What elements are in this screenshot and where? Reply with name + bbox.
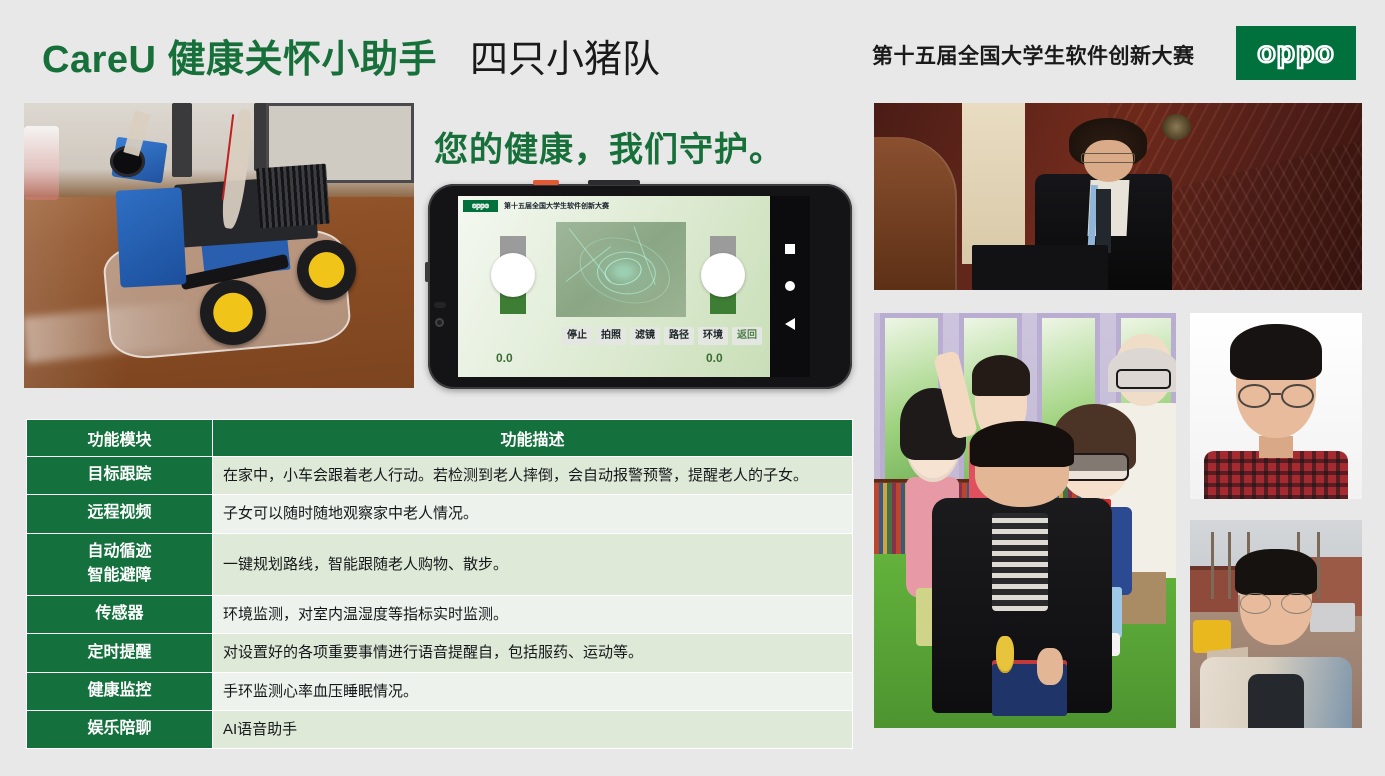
phone-screen: oppo 第十五届全国大学生软件创新大赛 0.0 0.0 停止 拍照 bbox=[458, 196, 810, 377]
neck bbox=[1259, 436, 1293, 458]
table-header-row: 功能模块 功能描述 bbox=[27, 420, 853, 457]
module-description: 子女可以随时随地观察家中老人情况。 bbox=[213, 495, 853, 533]
yellow-scooter bbox=[1193, 620, 1231, 653]
phone-mockup: oppo 第十五届全国大学生软件创新大赛 0.0 0.0 停止 拍照 bbox=[428, 184, 852, 389]
statue-hair bbox=[972, 355, 1030, 396]
parked-truck bbox=[1310, 603, 1355, 632]
recents-square-icon[interactable] bbox=[785, 244, 795, 254]
module-description: 环境监测，对室内温湿度等指标实时监测。 bbox=[213, 596, 853, 634]
wheel bbox=[297, 240, 356, 300]
glasses-left-lens bbox=[1240, 593, 1271, 614]
right-joystick-slider[interactable] bbox=[710, 236, 736, 314]
right-slider-value: 0.0 bbox=[706, 351, 723, 365]
module-name: 目标跟踪 bbox=[27, 457, 213, 495]
module-name: 健康监控 bbox=[27, 672, 213, 710]
table-row: 健康监控 手环监测心率血压睡眠情况。 bbox=[27, 672, 853, 710]
app-header: oppo 第十五届全国大学生软件创新大赛 bbox=[458, 196, 770, 216]
header-module: 功能模块 bbox=[27, 420, 213, 457]
member-striped-shirt bbox=[992, 513, 1048, 611]
heatsink-fan bbox=[256, 163, 330, 228]
module-name: 娱乐陪聊 bbox=[27, 710, 213, 748]
team-name: 四只小猪队 bbox=[470, 28, 660, 83]
table-row: 目标跟踪 在家中，小车会跟着老人行动。若检测到老人摔倒，会自动报警预警，提醒老人… bbox=[27, 457, 853, 495]
header-description: 功能描述 bbox=[213, 420, 853, 457]
module-description: 在家中，小车会跟着老人行动。若检测到老人摔倒，会自动报警预警，提醒老人的子女。 bbox=[213, 457, 853, 495]
arched-door bbox=[874, 137, 957, 290]
page-title: CareU 健康关怀小助手 bbox=[42, 28, 437, 83]
stop-button[interactable]: 停止 bbox=[562, 327, 592, 345]
module-description: 手环监测心率血压睡眠情况。 bbox=[213, 672, 853, 710]
left-slider-value: 0.0 bbox=[496, 351, 513, 365]
glasses-right-lens bbox=[1281, 593, 1312, 614]
bare-tree bbox=[1211, 532, 1214, 599]
bare-tree bbox=[1228, 532, 1231, 599]
table-row: 远程视频 子女可以随时随地观察家中老人情况。 bbox=[27, 495, 853, 533]
home-circle-icon[interactable] bbox=[785, 281, 795, 291]
module-description: AI语音助手 bbox=[213, 710, 853, 748]
path-button[interactable]: 路径 bbox=[664, 327, 694, 345]
app-contest-name: 第十五届全国大学生软件创新大赛 bbox=[504, 201, 609, 211]
team-member-crouching bbox=[928, 421, 1115, 728]
phone-side-key bbox=[425, 262, 429, 282]
presenter-tie bbox=[1096, 189, 1111, 253]
presentation-photo bbox=[874, 103, 1362, 290]
environment-button[interactable]: 环境 bbox=[698, 327, 728, 345]
module-name: 定时提醒 bbox=[27, 634, 213, 672]
control-button-row: 停止 拍照 滤镜 路径 环境 返回 bbox=[562, 327, 762, 345]
phone-power-button bbox=[533, 180, 559, 185]
robot-car-photo bbox=[24, 103, 414, 388]
glasses-bridge bbox=[1271, 393, 1281, 395]
table-row: 自动循迹 智能避障 一键规划路线，智能跟随老人购物、散步。 bbox=[27, 533, 853, 596]
member-id-photo bbox=[1190, 313, 1362, 499]
back-triangle-icon[interactable] bbox=[785, 318, 795, 330]
glasses-left-lens bbox=[1238, 384, 1271, 408]
table-row: 娱乐陪聊 AI语音助手 bbox=[27, 710, 853, 748]
table-row: 传感器 环境监测，对室内温湿度等指标实时监测。 bbox=[27, 596, 853, 634]
video-feed bbox=[556, 222, 686, 317]
feature-table: 功能模块 功能描述 目标跟踪 在家中，小车会跟着老人行动。若检测到老人摔倒，会自… bbox=[26, 419, 853, 749]
phone-volume-button bbox=[588, 180, 640, 185]
photo-button[interactable]: 拍照 bbox=[596, 327, 626, 345]
team-group-photo bbox=[874, 313, 1176, 728]
member-hair bbox=[1230, 324, 1323, 380]
member-tshirt bbox=[1248, 674, 1303, 728]
app-oppo-logo-text: oppo bbox=[472, 203, 489, 210]
glasses-right-lens bbox=[1281, 384, 1314, 408]
filter-button[interactable]: 滤镜 bbox=[630, 327, 660, 345]
building bbox=[1190, 566, 1238, 612]
contest-name: 第十五届全国大学生软件创新大赛 bbox=[872, 40, 1195, 70]
module-description: 一键规划路线，智能跟随老人购物、散步。 bbox=[213, 533, 853, 596]
laptop bbox=[972, 245, 1109, 290]
left-joystick-slider[interactable] bbox=[500, 236, 526, 314]
module-description: 对设置好的各项重要事情进行语音提醒自，包括服药、运动等。 bbox=[213, 634, 853, 672]
module-name: 远程视频 bbox=[27, 495, 213, 533]
member-hair bbox=[1235, 549, 1318, 595]
module-name: 传感器 bbox=[27, 596, 213, 634]
phone-speaker bbox=[434, 302, 446, 308]
wall-panel bbox=[962, 103, 1025, 264]
member-hand bbox=[1037, 648, 1063, 685]
oppo-logo-text: oppo bbox=[1257, 38, 1334, 68]
member-bottle bbox=[996, 636, 1015, 673]
phone-camera-lens bbox=[435, 318, 444, 327]
camera-mount bbox=[115, 187, 186, 287]
water-bottle bbox=[24, 126, 59, 200]
wheel bbox=[200, 280, 266, 346]
tagline: 您的健康，我们守护。 bbox=[434, 122, 784, 171]
oppo-logo: oppo bbox=[1236, 26, 1356, 80]
back-button[interactable]: 返回 bbox=[732, 327, 762, 345]
module-name: 自动循迹 智能避障 bbox=[27, 533, 213, 596]
member-hair bbox=[970, 421, 1075, 467]
chair-back bbox=[172, 103, 192, 177]
table-row: 定时提醒 对设置好的各项重要事情进行语音提醒自，包括服药、运动等。 bbox=[27, 634, 853, 672]
member-outdoor-photo bbox=[1190, 520, 1362, 728]
slide-header: CareU 健康关怀小助手 四只小猪队 第十五届全国大学生软件创新大赛 oppo bbox=[0, 0, 1385, 95]
presenter-glasses bbox=[1081, 153, 1135, 162]
app-oppo-logo: oppo bbox=[463, 200, 498, 212]
bare-tree bbox=[1317, 532, 1320, 599]
android-nav-bar bbox=[770, 196, 810, 377]
statue-glasses bbox=[1116, 369, 1171, 389]
slider-knob[interactable] bbox=[491, 253, 535, 297]
slider-knob[interactable] bbox=[701, 253, 745, 297]
